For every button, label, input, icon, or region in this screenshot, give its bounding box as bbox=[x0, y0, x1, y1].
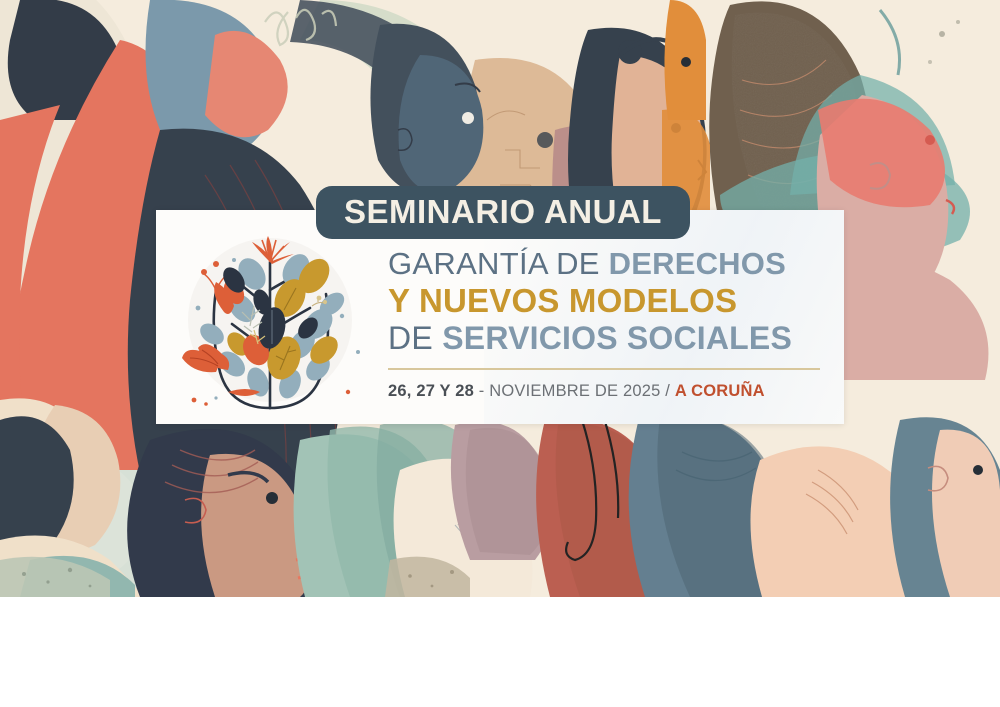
seminar-badge-label: SEMINARIO ANUAL bbox=[344, 195, 662, 228]
date-days: 26, 27 Y 28 bbox=[388, 382, 474, 400]
tree-logo-icon bbox=[172, 232, 368, 416]
title-line-1: GARANTÍA DE DERECHOS bbox=[388, 248, 828, 279]
title-line-1-bold: DERECHOS bbox=[609, 246, 786, 281]
title-line-2-gold: Y NUEVOS MODELOS bbox=[388, 282, 737, 319]
title-block: GARANTÍA DE DERECHOS Y NUEVOS MODELOS DE… bbox=[388, 248, 828, 401]
seminar-badge: SEMINARIO ANUAL bbox=[316, 186, 690, 239]
date-month-year: - NOVIEMBRE DE 2025 / bbox=[474, 382, 675, 400]
sponsor-bar: ORGANIZAN COLABORAN SUBVENCIONAN E A N E… bbox=[0, 597, 1000, 707]
poster-root: SEMINARIO ANUAL GARANTÍA DE DERECHOS Y N… bbox=[0, 0, 1000, 707]
title-line-3: DE SERVICIOS SOCIALES bbox=[388, 322, 828, 354]
title-line-2: Y NUEVOS MODELOS bbox=[388, 284, 828, 317]
date-location-line: 26, 27 Y 28 - NOVIEMBRE DE 2025 / A CORU… bbox=[388, 382, 828, 401]
title-line-3-bold: SERVICIOS SOCIALES bbox=[442, 320, 792, 356]
title-line-1-light: GARANTÍA DE bbox=[388, 246, 609, 281]
date-city: A CORUÑA bbox=[675, 382, 765, 400]
title-divider bbox=[388, 368, 820, 370]
title-line-3-light: DE bbox=[388, 320, 442, 356]
